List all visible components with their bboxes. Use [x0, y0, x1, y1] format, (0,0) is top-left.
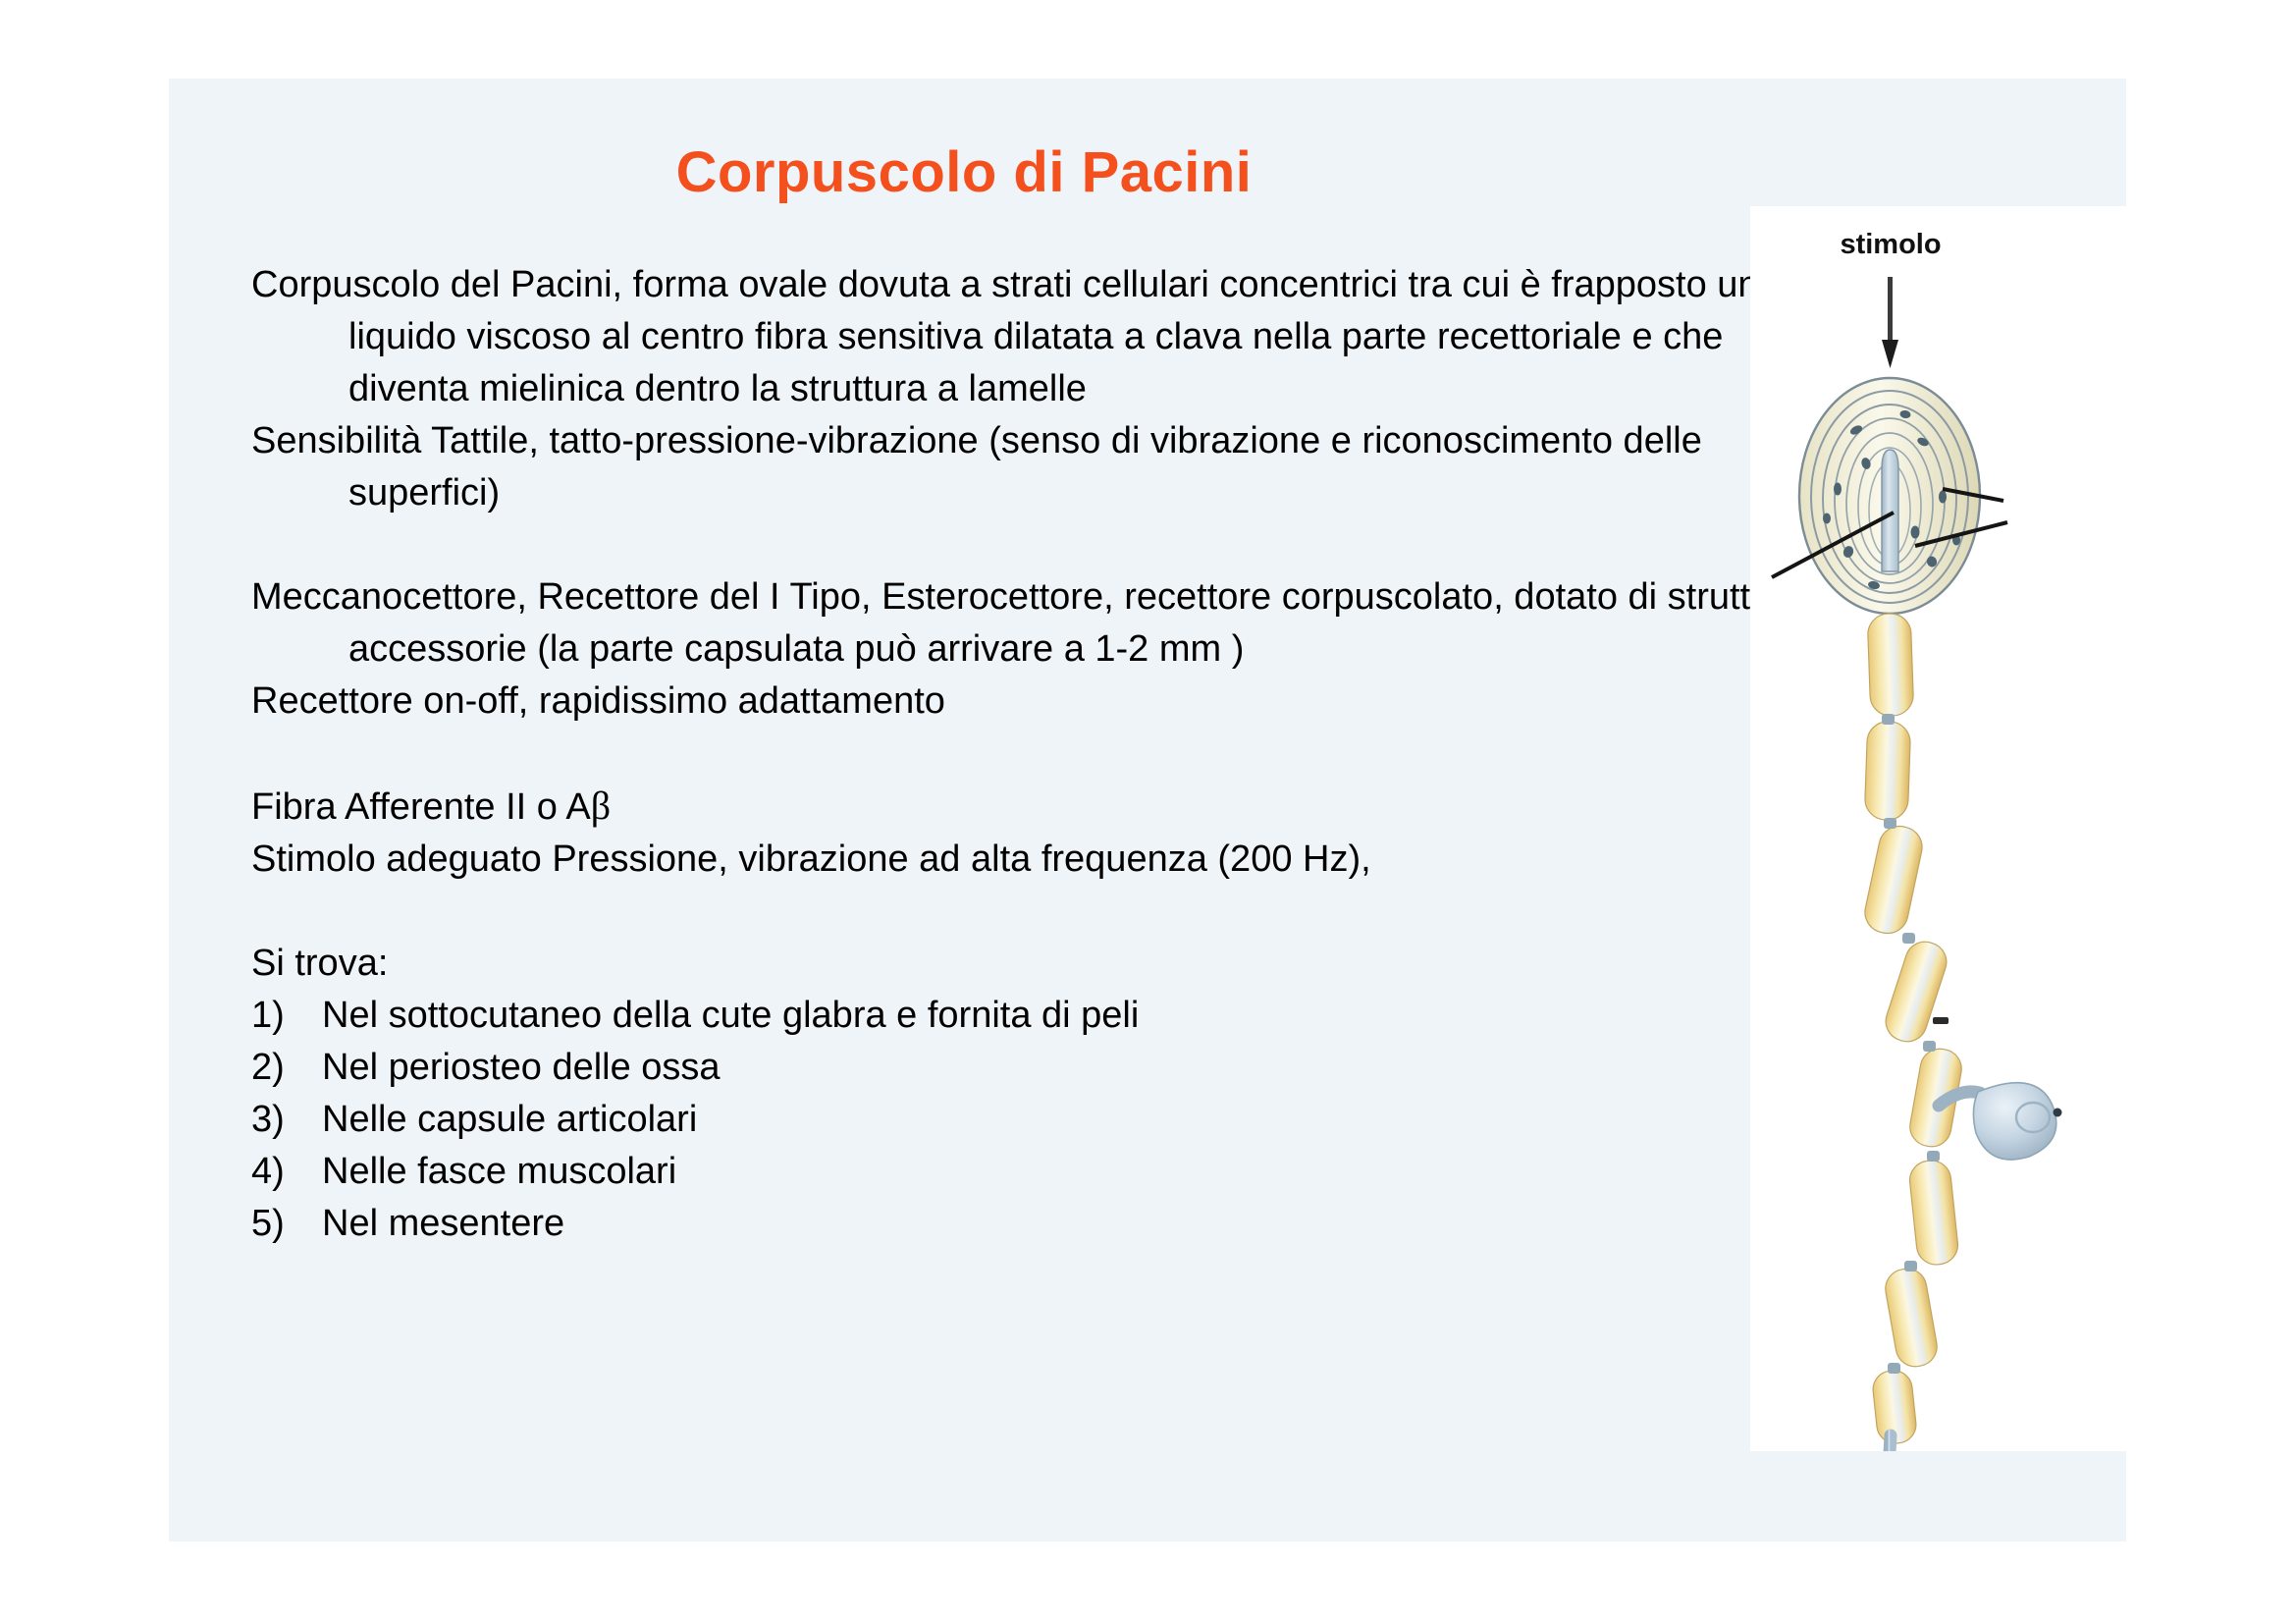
pacinian-corpuscle-figure: stimolo [1750, 206, 2126, 1451]
stimulus-arrow-icon [1882, 277, 1898, 368]
list-item-label: Nelle capsule articolari [322, 1094, 1812, 1146]
paragraph-adaptation: Recettore on-off, rapidissimo adattament… [251, 676, 1812, 728]
spacer [251, 886, 1812, 938]
list-item-number: 4) [251, 1146, 322, 1198]
list-item-number: 1) [251, 990, 322, 1042]
slide-canvas: Corpuscolo di Pacini Corpuscolo del Paci… [169, 79, 2126, 1542]
paragraph-mechanoreceptor: Meccanocettore, Recettore del I Tipo, Es… [251, 571, 1812, 676]
paragraph-description: Corpuscolo del Pacini, forma ovale dovut… [251, 259, 1812, 415]
list-item-label: Nel periosteo delle ossa [322, 1042, 1812, 1094]
list-item: 5) Nel mesentere [251, 1198, 1812, 1250]
list-item-label: Nel mesentere [322, 1198, 1812, 1250]
locations-list: 1) Nel sottocutaneo della cute glabra e … [251, 990, 1812, 1250]
stimulus-label: stimolo [1840, 229, 1941, 260]
lamellar-capsule [1799, 378, 1980, 614]
list-item-number: 3) [251, 1094, 322, 1146]
internode-mark [1933, 1017, 1949, 1024]
beta-symbol: β [591, 784, 611, 828]
list-item: 3) Nelle capsule articolari [251, 1094, 1812, 1146]
paragraph-adequate-stimulus: Stimolo adeguato Pressione, vibrazione a… [251, 834, 1812, 886]
list-item: 4) Nelle fasce muscolari [251, 1146, 1812, 1198]
paragraph-sensibility: Sensibilità Tattile, tatto-pressione-vib… [251, 415, 1812, 519]
pacinian-corpuscle-illustration: stimolo [1750, 206, 2126, 1451]
afferent-fiber-prefix: Fibra Afferente II o A [251, 786, 591, 828]
spacer [251, 519, 1812, 571]
slide-body-text: Corpuscolo del Pacini, forma ovale dovut… [251, 259, 1812, 1250]
list-item: 1) Nel sottocutaneo della cute glabra e … [251, 990, 1812, 1042]
list-item-label: Nelle fasce muscolari [322, 1146, 1812, 1198]
list-item-number: 2) [251, 1042, 322, 1094]
page-title: Corpuscolo di Pacini [169, 139, 1759, 205]
list-item-number: 5) [251, 1198, 322, 1250]
locations-heading: Si trova: [251, 938, 1812, 990]
central-axon-terminal [1882, 450, 1898, 571]
soma-dark-spot [2054, 1109, 2062, 1117]
list-item-label: Nel sottocutaneo della cute glabra e for… [322, 990, 1812, 1042]
list-item: 2) Nel periosteo delle ossa [251, 1042, 1812, 1094]
myelinated-axon [1861, 613, 1964, 1445]
paragraph-afferent-fiber: Fibra Afferente II o Aβ [251, 780, 1812, 834]
neuron-soma [1939, 1083, 2062, 1160]
spacer [251, 728, 1812, 780]
